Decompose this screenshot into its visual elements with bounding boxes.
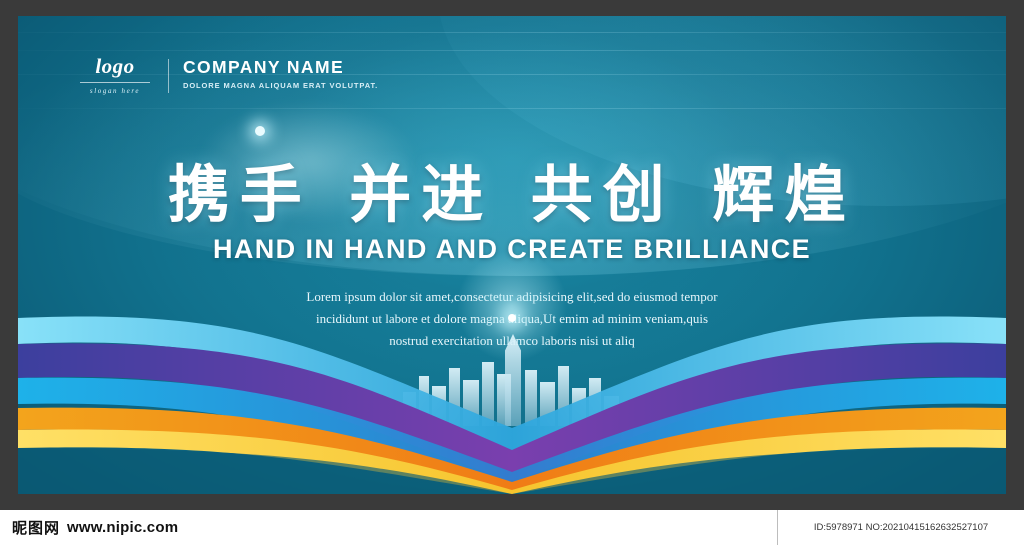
company-name: COMPANY NAME bbox=[183, 57, 378, 77]
headline-cn-part-2: 并进 bbox=[349, 162, 493, 230]
logo-slogan: slogan here bbox=[76, 87, 154, 95]
company-block: COMPANY NAME DOLORE MAGNA ALIQUAM ERAT V… bbox=[183, 56, 378, 90]
headline-cn: 携手 并进 共创 辉煌 bbox=[18, 144, 1006, 234]
logo-wordmark: logo bbox=[76, 56, 154, 77]
poster-page: logo slogan here COMPANY NAME DOLORE MAG… bbox=[0, 0, 1024, 545]
hairline-4 bbox=[18, 32, 1006, 33]
ribbon-graphics bbox=[18, 304, 1006, 494]
headline-cn-part-1: 携手 bbox=[168, 162, 312, 230]
brand-name-cn: 昵图网 bbox=[12, 517, 60, 538]
headline-cn-part-4: 辉煌 bbox=[712, 162, 856, 230]
headline-cn-part-3: 共创 bbox=[531, 162, 675, 230]
hairline-3 bbox=[18, 108, 1006, 109]
poster-background: logo slogan here COMPANY NAME DOLORE MAG… bbox=[18, 16, 1006, 494]
company-tagline: DOLORE MAGNA ALIQUAM ERAT VOLUTPAT. bbox=[183, 81, 378, 90]
sparkle-icon bbox=[255, 126, 265, 136]
header-divider bbox=[168, 59, 169, 93]
site-brand: 昵图网 www.nipic.com bbox=[0, 517, 178, 538]
logo-divider bbox=[80, 82, 150, 83]
hairline-1 bbox=[18, 50, 1006, 51]
asset-id-text: ID:5978971 NO:20210415162632527107 bbox=[814, 522, 988, 533]
poster-canvas: logo slogan here COMPANY NAME DOLORE MAG… bbox=[18, 16, 1006, 494]
footer-bar: 昵图网 www.nipic.com ID:5978971 NO:20210415… bbox=[0, 510, 1024, 545]
asset-id-box: ID:5978971 NO:20210415162632527107 bbox=[777, 510, 1024, 545]
brand-url[interactable]: www.nipic.com bbox=[67, 519, 178, 536]
poster-frame: logo slogan here COMPANY NAME DOLORE MAG… bbox=[0, 0, 1024, 510]
brand-header: logo slogan here COMPANY NAME DOLORE MAG… bbox=[76, 56, 378, 95]
logo: logo slogan here bbox=[76, 56, 154, 95]
